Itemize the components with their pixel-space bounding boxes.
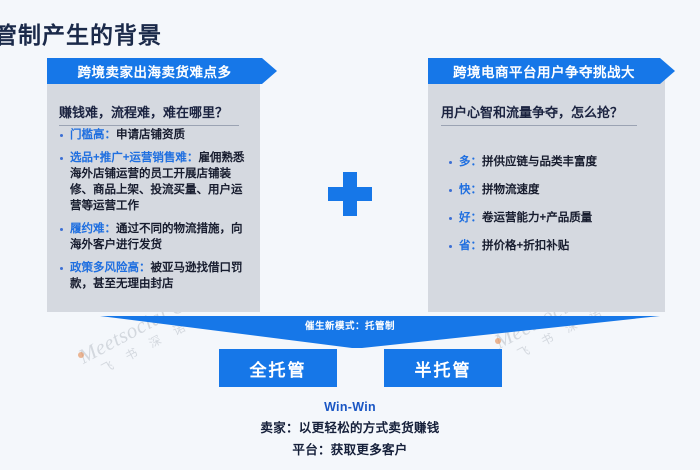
list-item: 好：卷运营能力+产品质量 <box>448 210 658 226</box>
bullet-key: 选品+推广+运营销售难： <box>70 152 198 164</box>
list-item: 快：拼物流速度 <box>448 182 658 198</box>
mode-button-half-custody[interactable]: 半托管 <box>384 349 502 387</box>
bullet-text: 拼供应链与品类丰富度 <box>482 156 597 168</box>
bullet-key: 门槛高： <box>70 129 116 141</box>
footer-platform-line: 平台：获取更多客户 <box>0 439 700 458</box>
left-panel: 跨境卖家出海卖货难点多 赚钱难，流程难，难在哪里？ 门槛高：申请店铺资质 选品+… <box>47 58 292 314</box>
right-panel-header: 跨境电商平台用户争夺挑战大 <box>428 58 660 84</box>
left-panel-header-label: 跨境卖家出海卖货难点多 <box>78 61 232 81</box>
funnel-label: 催生新模式：托管制 <box>0 318 700 332</box>
right-panel-header-label: 跨境电商平台用户争夺挑战大 <box>453 61 635 81</box>
footer: Win-Win 卖家：以更轻松的方式卖货赚钱 平台：获取更多客户 <box>0 400 700 458</box>
left-panel-header: 跨境卖家出海卖货难点多 <box>47 58 262 84</box>
list-item: 省：拼价格+折扣补贴 <box>448 238 658 254</box>
page-title: 管制产生的背景 <box>0 16 162 50</box>
watermark-dot-left <box>78 352 84 358</box>
left-panel-bullet-list: 门槛高：申请店铺资质 选品+推广+运营销售难：雇佣熟悉海外店铺运营的员工开展店铺… <box>59 127 251 299</box>
bullet-key: 政策多风险高： <box>70 262 151 274</box>
bullet-text: 拼物流速度 <box>482 184 540 196</box>
plus-icon <box>328 172 372 216</box>
bullet-key: 省： <box>459 240 482 252</box>
bullet-key: 多： <box>459 156 482 168</box>
bullet-key: 好： <box>459 212 482 224</box>
right-panel-bullet-list: 多：拼供应链与品类丰富度 快：拼物流速度 好：卷运营能力+产品质量 省：拼价格+… <box>448 154 658 261</box>
footer-seller-line: 卖家：以更轻松的方式卖货赚钱 <box>0 417 700 436</box>
list-item: 选品+推广+运营销售难：雇佣熟悉海外店铺运营的员工开展店铺装修、商品上架、投流买… <box>59 150 251 214</box>
list-item: 门槛高：申请店铺资质 <box>59 127 251 143</box>
arrow-tip-icon <box>262 58 277 84</box>
right-panel-lead: 用户心智和流量争夺，怎么抢？ <box>441 102 637 126</box>
list-item: 政策多风险高：被亚马逊找借口罚款，甚至无理由封店 <box>59 260 251 292</box>
mode-button-label: 半托管 <box>415 356 472 381</box>
mode-button-label: 全托管 <box>250 356 307 381</box>
list-item: 履约难：通过不同的物流措施，向海外客户进行发货 <box>59 221 251 253</box>
bullet-text: 申请店铺资质 <box>116 129 185 141</box>
arrow-tip-icon <box>660 58 675 84</box>
list-item: 多：拼供应链与品类丰富度 <box>448 154 658 170</box>
mode-button-full-custody[interactable]: 全托管 <box>219 349 337 387</box>
right-panel: 跨境电商平台用户争夺挑战大 用户心智和流量争夺，怎么抢？ 多：拼供应链与品类丰富… <box>428 58 676 314</box>
bullet-key: 快： <box>459 184 482 196</box>
plus-vertical-bar <box>343 172 357 216</box>
footer-win-win-label: Win-Win <box>0 400 700 414</box>
bullet-text: 拼价格+折扣补贴 <box>482 240 569 252</box>
bullet-text: 卷运营能力+产品质量 <box>482 212 592 224</box>
left-panel-lead: 赚钱难，流程难，难在哪里？ <box>59 102 239 126</box>
bullet-key: 履约难： <box>70 223 116 235</box>
